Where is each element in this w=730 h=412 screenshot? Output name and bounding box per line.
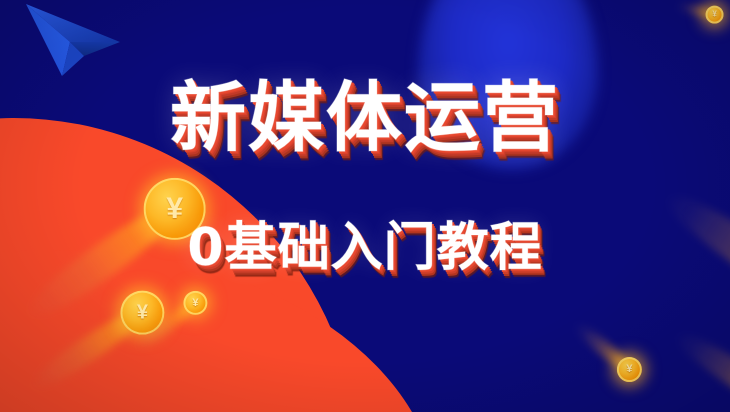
paper-plane-icon bbox=[22, 0, 134, 80]
page-subtitle: 0基础入门教程 bbox=[187, 222, 542, 274]
coin-icon: ¥ bbox=[617, 357, 642, 382]
main-title-container: 新媒体运营 bbox=[0, 80, 730, 156]
coin-icon: ¥ bbox=[183, 291, 207, 315]
sub-title-container: 0基础入门教程 bbox=[0, 222, 730, 274]
poster-canvas: ¥¥¥¥¥¥¥ 新媒体运营 0基础入门教程 bbox=[0, 0, 730, 412]
page-title: 新媒体运营 bbox=[170, 80, 560, 156]
coin-icon: ¥ bbox=[706, 6, 724, 24]
